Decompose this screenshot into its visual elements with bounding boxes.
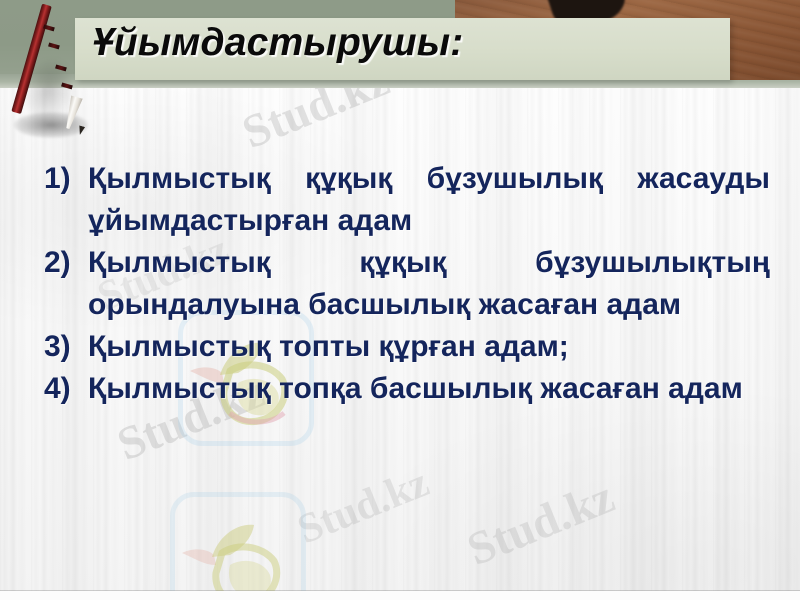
list-item-number: 3) <box>44 326 88 368</box>
numbered-list: 1) Қылмыстық құқық бұзушылық жасауды ұйы… <box>44 158 770 410</box>
list-item-text: Қылмыстық құқық бұзушылықтың орындалуына… <box>88 242 770 326</box>
list-item-number: 4) <box>44 368 88 410</box>
list-item-text: Қылмыстық топқа басшылық жасаған адам <box>88 368 770 410</box>
list-item: 1) Қылмыстық құқық бұзушылық жасауды ұйы… <box>44 158 770 242</box>
list-item-text: Қылмыстық топты құрған адам; <box>88 326 770 368</box>
list-item: 2) Қылмыстық құқық бұзушылықтың орындалу… <box>44 242 770 326</box>
list-item-number: 2) <box>44 242 88 284</box>
list-item: 3) Қылмыстық топты құрған адам; <box>44 326 770 368</box>
page-title: Ұйымдастырушы: <box>92 21 712 65</box>
list-item: 4) Қылмыстық топқа басшылық жасаған адам <box>44 368 770 410</box>
slide-canvas: Stud.kz - Stud.kz Stud.kz Stud.kz Stud.k… <box>0 0 800 600</box>
bottom-divider <box>0 590 800 591</box>
pen-ink-blot-shadow <box>14 112 88 138</box>
bottom-margin <box>0 591 800 600</box>
list-item-text: Қылмыстық құқық бұзушылық жасауды ұйымда… <box>88 158 770 242</box>
list-item-number: 1) <box>44 158 88 200</box>
